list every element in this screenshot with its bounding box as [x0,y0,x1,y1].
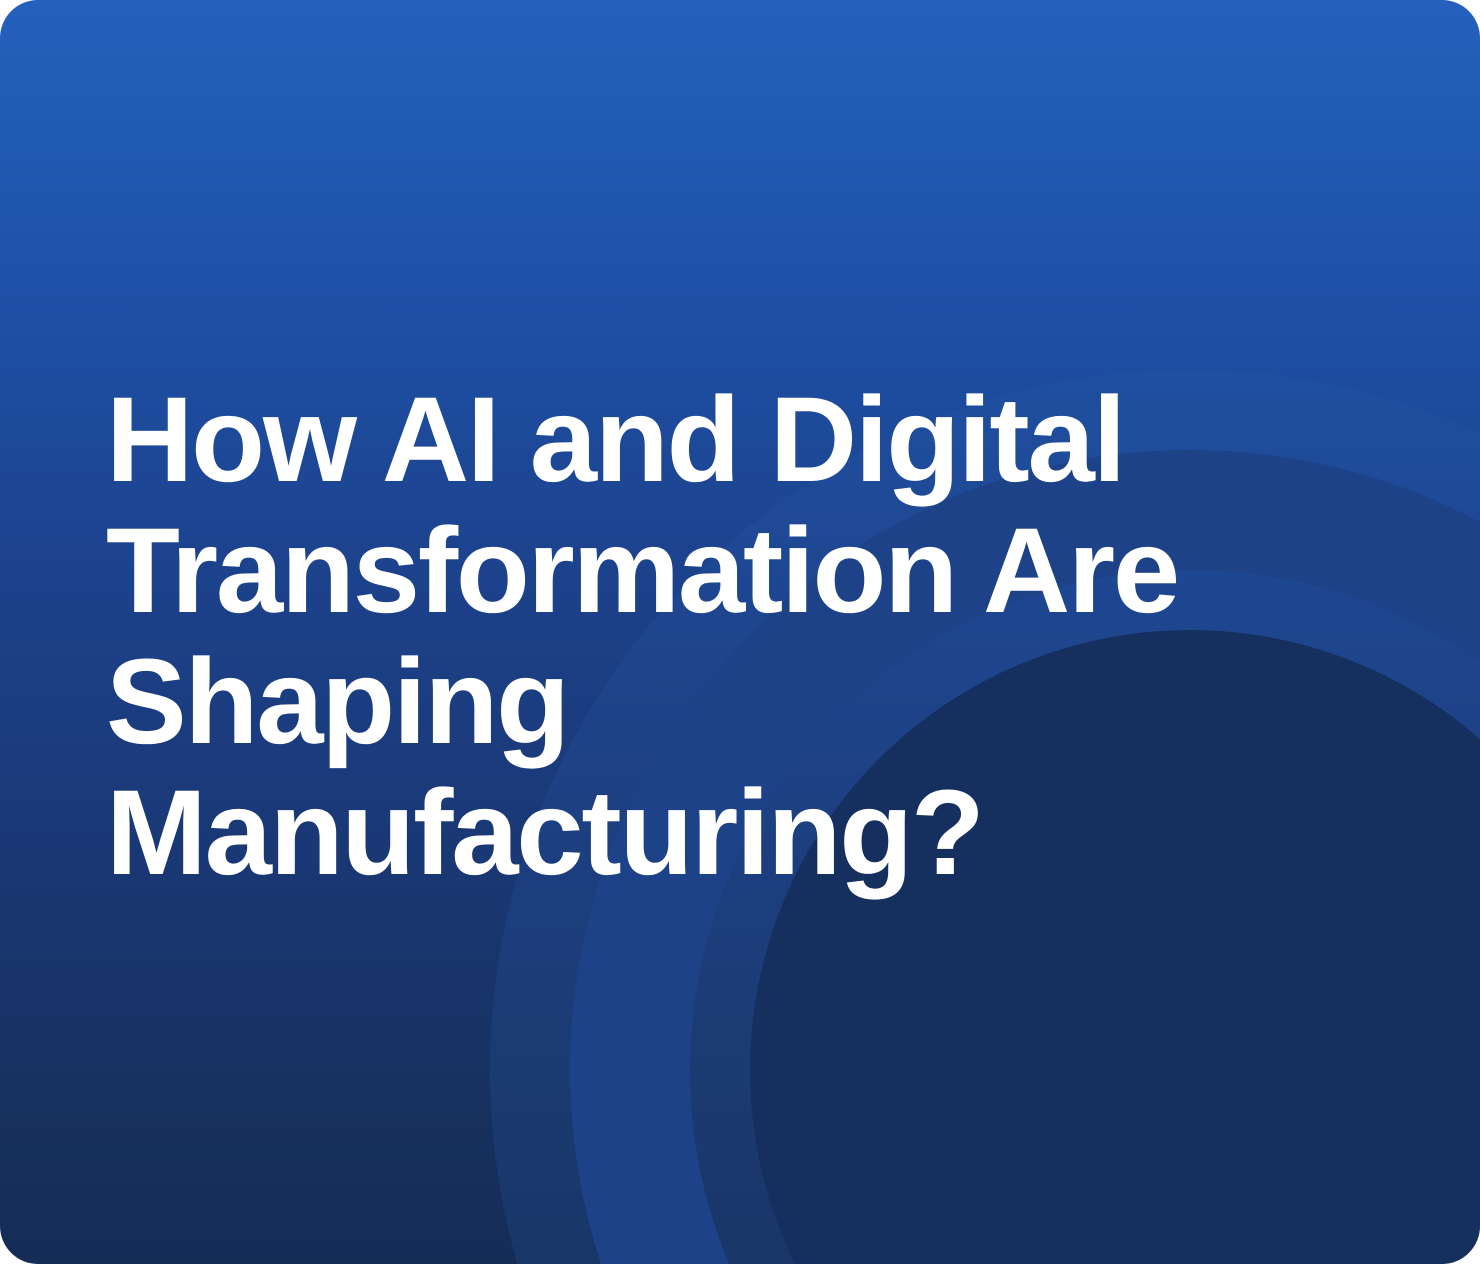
article-hero-card: How AI and Digital Transformation Are Sh… [0,0,1480,1264]
hero-title-block: How AI and Digital Transformation Are Sh… [106,374,1256,898]
page-title: How AI and Digital Transformation Are Sh… [106,374,1256,898]
